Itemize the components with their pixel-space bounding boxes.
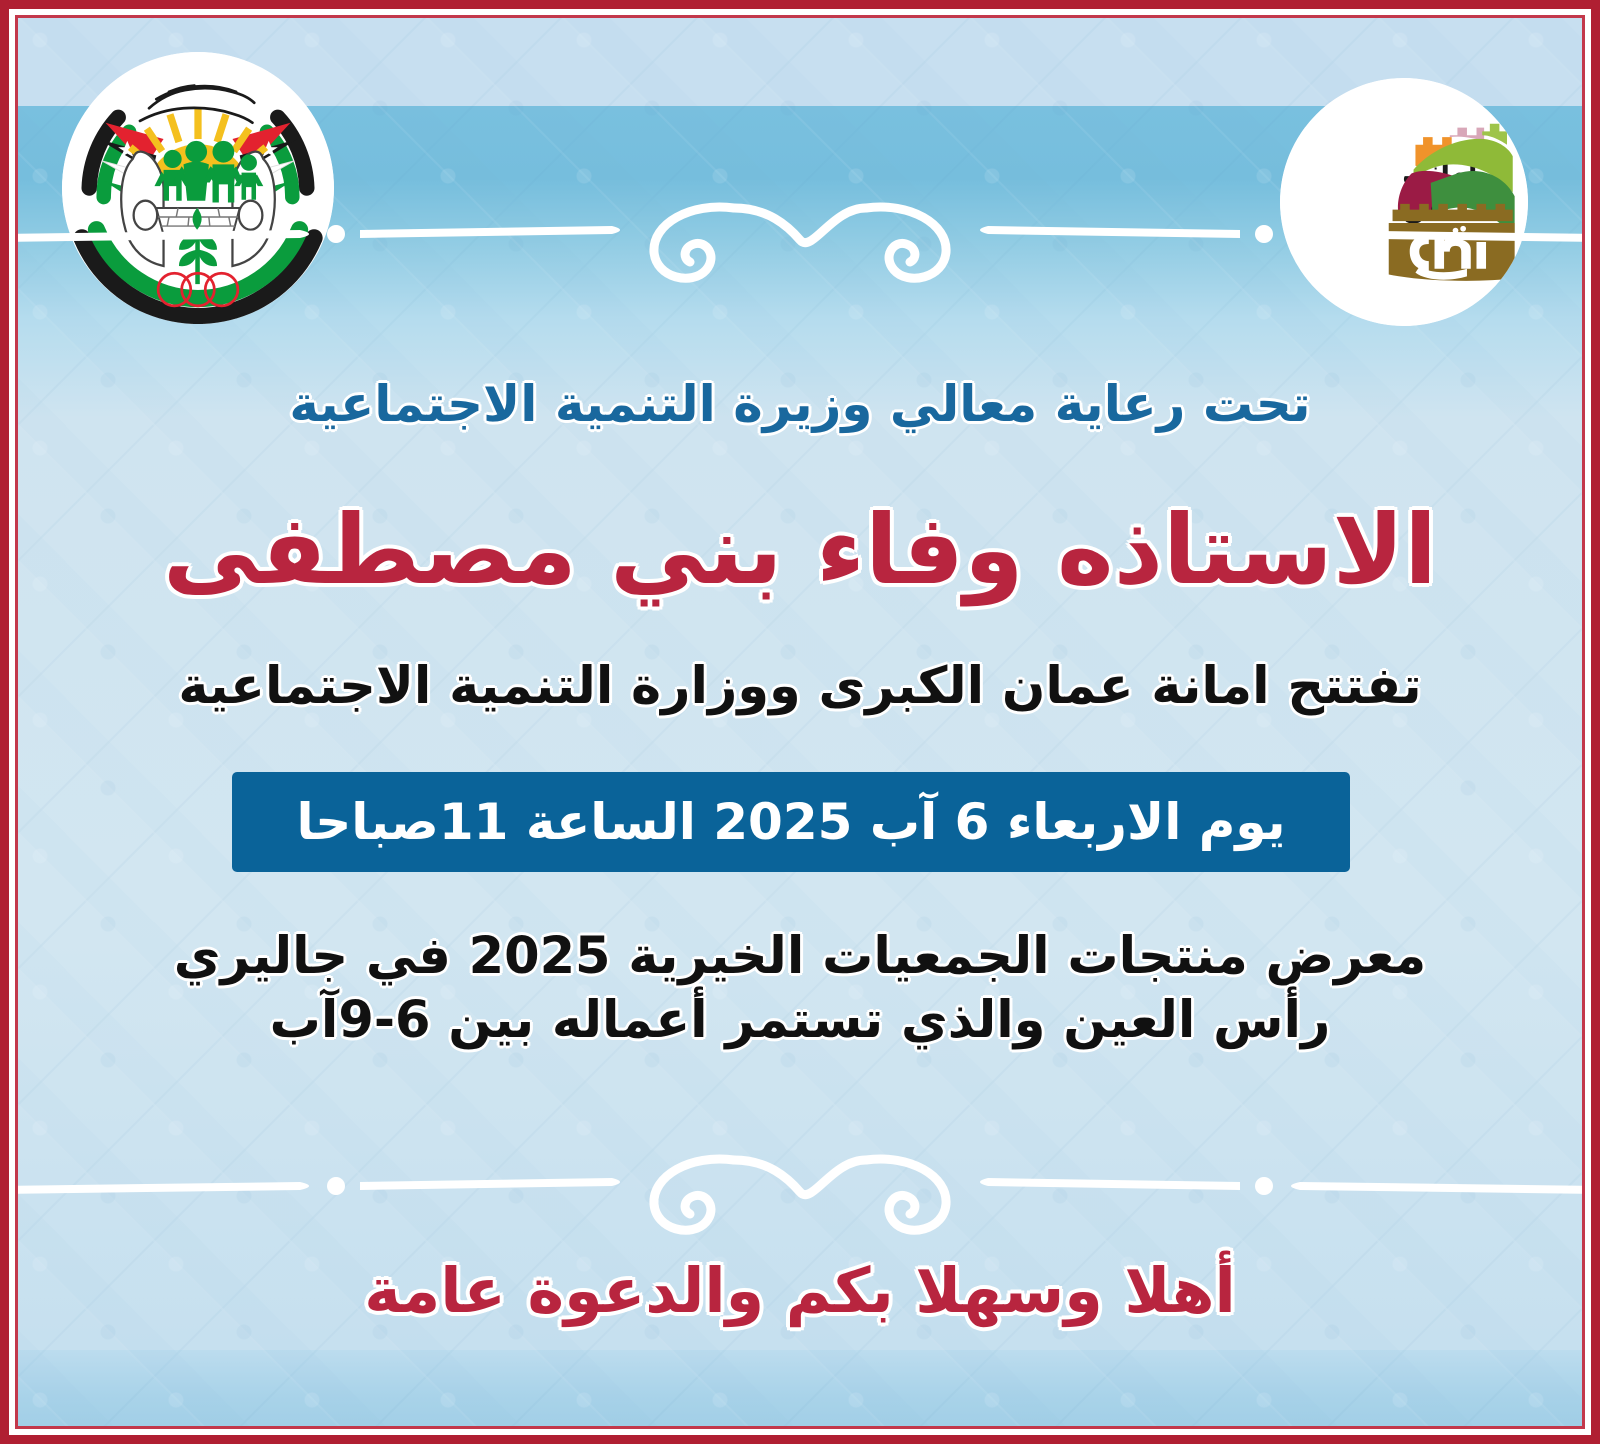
event-poster: المملكة الأردنية الهاشمية وزارة التنمية … — [0, 0, 1600, 1444]
bottom-scroll-flourish-divider — [0, 1138, 1600, 1244]
patron-name: الاستاذه وفاء بني مصطفى — [60, 500, 1540, 601]
welcome-line: أهلا وسهلا بكم والدعوة عامة — [60, 1258, 1540, 1323]
description-line-1: معرض منتجات الجمعيات الخيرية 2025 في جال… — [70, 925, 1530, 989]
date-time-text: يوم الاربعاء 6 آب 2025 الساعة 11صباحا — [297, 793, 1286, 851]
top-scroll-flourish-divider — [0, 186, 1600, 292]
organizers-line: تفتتح امانة عمان الكبرى ووزارة التنمية ا… — [60, 660, 1540, 714]
description-line-2: رأس العين والذي تستمر أعماله بين 6-9آب — [70, 989, 1530, 1053]
event-description: معرض منتجات الجمعيات الخيرية 2025 في جال… — [70, 925, 1530, 1053]
patron-line: تحت رعاية معالي وزيرة التنمية الاجتماعية — [60, 378, 1540, 431]
date-time-banner: يوم الاربعاء 6 آب 2025 الساعة 11صباحا — [232, 772, 1350, 872]
